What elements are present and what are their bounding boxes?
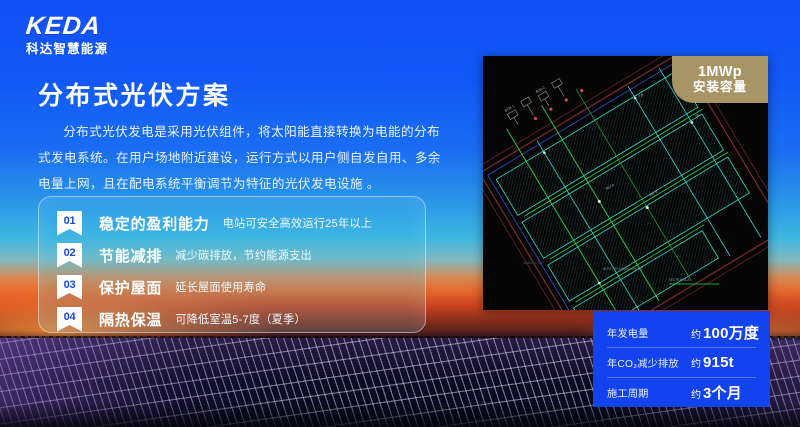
- table-row: 施工周期 约3个月: [593, 377, 770, 407]
- table-row: 年CO₂减少排放 约915t: [593, 347, 770, 377]
- metric-number: 100万度: [703, 322, 759, 343]
- list-item[interactable]: 04 隔热保温 可降低室温5-7度（夏季）: [39, 303, 425, 335]
- metric-prefix: 约: [691, 355, 701, 370]
- svg-text:SECTION A-A: SECTION A-A: [669, 278, 690, 282]
- brand-logo-mark: KEDA: [25, 14, 110, 39]
- feature-list-panel: 01 稳定的盈利能力 电站可安全高效运行25年以上 02 节能减排 减少碳排放，…: [38, 196, 426, 333]
- metric-label: 年发电量: [607, 325, 691, 340]
- list-item[interactable]: 03 保护屋面 延长屋面使用寿命: [39, 271, 425, 303]
- capacity-value: 1MWp: [698, 65, 742, 80]
- capacity-badge: 1MWp 安装容量: [672, 56, 768, 103]
- metric-value: 约3个月: [691, 382, 742, 403]
- feature-description: 可降低室温5-7度（夏季）: [175, 311, 306, 327]
- metric-value: 约100万度: [691, 322, 759, 343]
- feature-description: 电站可安全高效运行25年以上: [223, 215, 373, 231]
- list-item[interactable]: 02 节能减排 减少碳排放，节约能源支出: [39, 239, 425, 271]
- metric-number: 3个月: [703, 382, 742, 403]
- table-row: 年发电量 约100万度: [593, 317, 770, 347]
- number-badge-icon: 01: [57, 211, 82, 236]
- brand-logo: KEDA 科达智慧能源: [26, 14, 108, 56]
- svg-text:NOTE: PV ARRAY LAYOUT: NOTE: PV ARRAY LAYOUT: [603, 267, 643, 271]
- badge-number: 03: [64, 280, 76, 291]
- metric-prefix: 约: [691, 386, 701, 401]
- brand-logo-name: 科达智慧能源: [26, 43, 108, 56]
- feature-title: 节能减排: [99, 245, 162, 266]
- page-title: 分布式光伏方案: [38, 76, 231, 112]
- feature-title: 隔热保温: [99, 309, 162, 330]
- feature-description: 减少碳排放，节约能源支出: [175, 247, 312, 263]
- metric-label: 施工周期: [607, 385, 691, 400]
- metric-label: 年CO₂减少排放: [607, 355, 691, 370]
- metric-value: 约915t: [691, 354, 734, 371]
- svg-text:SCALE 1:500: SCALE 1:500: [523, 261, 543, 265]
- slide-stage: KEDA 科达智慧能源 分布式光伏方案 分布式光伏发电是采用光伏组件，将太阳能直…: [0, 0, 800, 427]
- number-badge-icon: 03: [57, 275, 82, 300]
- badge-number: 01: [64, 216, 76, 227]
- feature-title: 稳定的盈利能力: [99, 213, 210, 234]
- list-item[interactable]: 01 稳定的盈利能力 电站可安全高效运行25年以上: [39, 207, 425, 239]
- metric-number: 915t: [703, 354, 734, 371]
- badge-number: 04: [64, 312, 76, 323]
- feature-description: 延长屋面使用寿命: [175, 279, 266, 295]
- capacity-label: 安装容量: [693, 81, 747, 94]
- number-badge-icon: 02: [57, 243, 82, 268]
- number-badge-icon: 04: [57, 307, 82, 332]
- cad-site-layout-image: BOX-1BOX-2 INV-AINV-B CBTR SECTION A-A N…: [483, 56, 768, 310]
- key-metrics-box: 年发电量 约100万度 年CO₂减少排放 约915t 施工周期 约3个月: [593, 311, 770, 407]
- badge-number: 02: [64, 248, 76, 259]
- metric-prefix: 约: [691, 326, 701, 341]
- intro-paragraph: 分布式光伏发电是采用光伏组件，将太阳能直接转换为电能的分布式发电系统。在用户场地…: [38, 120, 446, 197]
- feature-title: 保护屋面: [99, 277, 162, 298]
